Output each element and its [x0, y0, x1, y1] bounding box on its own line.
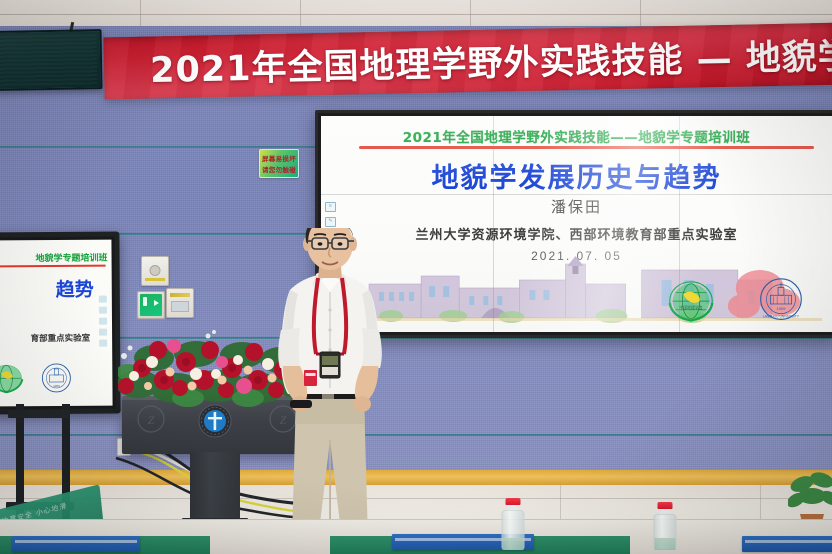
warning-line-1: 屏幕易损坏 [262, 153, 296, 163]
desk-nameplate [742, 536, 832, 552]
home-icon[interactable] [99, 329, 107, 336]
presentation-smartboard[interactable]: 2021年全国地理学野外实践技能——地貌学专题培训班 地貌学发展历史与趋势 潘保… [315, 110, 832, 338]
control-box-label [170, 293, 190, 297]
presentation-remote [290, 400, 312, 408]
water-bottle [650, 502, 680, 552]
exit-sign [137, 291, 165, 319]
pen-icon[interactable]: ✎ [325, 217, 336, 227]
speaker-knob[interactable] [150, 265, 161, 276]
bottle-cap [506, 498, 521, 505]
svg-text:LANZHOU UNIVERSITY: LANZHOU UNIVERSITY [763, 314, 800, 318]
monitor-title-text: 趋势 [0, 275, 94, 303]
svg-text:1909: 1909 [53, 384, 60, 388]
warning-line-2: 请您勿触碰 [262, 164, 296, 174]
geographical-society-of-china-logo: 中国地理学会 [662, 276, 720, 326]
slide-title: 地貌学发展历史与趋势 [321, 156, 832, 195]
lecture-hall-photo: 2021年全国地理学野外实践技能 — 地貌学 2021年全国地理学野外实践技能—… [0, 0, 832, 554]
lanzhou-university-seal: 1909 LANZHOU UNIVERSITY [752, 274, 810, 326]
pen-icon[interactable] [99, 307, 107, 314]
slide-author: 潘保田 [321, 196, 832, 217]
wall-speaker-unit [141, 256, 169, 286]
screen-warning-sign: 屏幕易损坏 请您勿触碰 [259, 149, 299, 178]
bottle-cap [658, 502, 673, 509]
lanzhou-university-seal: 1909 [36, 360, 76, 396]
slide-header: 2021年全国地理学野外实践技能——地貌学专题培训班 [321, 126, 832, 146]
water-bottle [498, 498, 528, 552]
svg-text:1909: 1909 [776, 306, 786, 311]
monitor-header-text: 地貌学专题培训班 [0, 251, 108, 265]
bottle-label [655, 538, 676, 550]
bottle-label [503, 538, 524, 550]
svg-text:Z: Z [148, 413, 155, 427]
eraser-icon[interactable] [99, 318, 107, 325]
geographical-society-of-china-logo [0, 360, 27, 396]
slide-affiliation: 兰州大学资源环境学院、西部环境教育部重点实验室 [321, 224, 832, 243]
monitor-divider [0, 265, 106, 268]
led-display-panel [0, 29, 103, 91]
arrow-icon [154, 300, 159, 306]
smartboard-screen[interactable]: 2021年全国地理学野外实践技能——地貌学专题培训班 地貌学发展历史与趋势 潘保… [321, 116, 832, 332]
speaker-presenting [268, 228, 392, 554]
desk-nameplate [12, 536, 140, 552]
wall-control-box[interactable] [166, 288, 194, 318]
monitor-affiliation-text: 育部重点实验室 [0, 332, 90, 345]
slide-divider [359, 146, 814, 149]
control-box-display [171, 301, 189, 312]
menu-icon[interactable]: ≡ [325, 202, 336, 212]
menu-icon[interactable] [99, 296, 107, 303]
svg-text:中国地理学会: 中国地理学会 [679, 305, 702, 310]
podium-column [190, 452, 240, 524]
presentation-slide: 2021年全国地理学野外实践技能——地貌学专题培训班 地貌学发展历史与趋势 潘保… [321, 116, 832, 332]
banner-fold [823, 23, 832, 91]
save-icon[interactable] [99, 340, 107, 347]
banner-text: 2021年全国地理学野外实践技能 — 地貌学 [150, 28, 832, 93]
speaker-label-strip [145, 278, 165, 281]
monitor-toolbar[interactable] [99, 296, 107, 347]
running-man-icon [143, 297, 147, 306]
monitor-screen: 地貌学专题培训班 趋势 育部重点实验室 [0, 240, 113, 407]
secondary-display-monitor[interactable]: 地貌学专题培训班 趋势 育部重点实验室 [0, 232, 121, 415]
